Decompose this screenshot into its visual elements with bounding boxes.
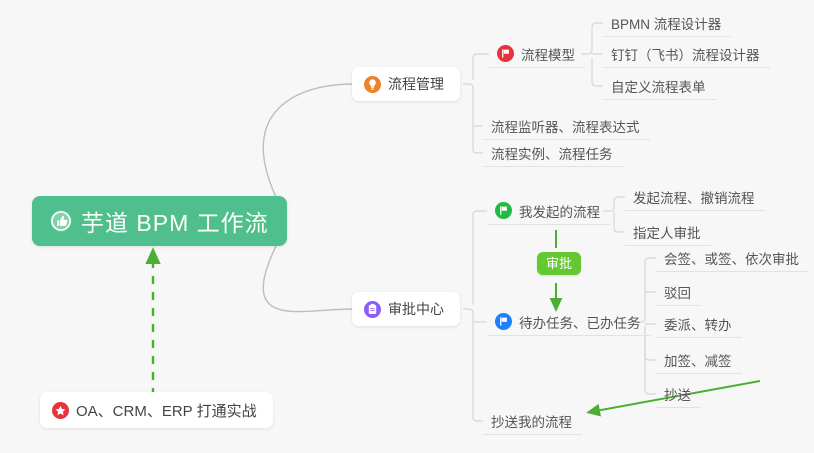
node-label-delegate-transfer: 委派、转办 <box>664 314 732 334</box>
branch-label-approval-center: 审批中心 <box>388 299 444 319</box>
node-label-todo-done-task: 待办任务、已办任务 <box>519 312 641 332</box>
bottom-note-node[interactable]: OA、CRM、ERP 打通实战 <box>40 392 273 428</box>
link-root-to-approval-center <box>263 236 352 312</box>
node-assignee-approval[interactable]: 指定人审批 <box>625 218 711 246</box>
node-label-listener-expression: 流程监听器、流程表达式 <box>491 116 640 136</box>
node-custom-process-form[interactable]: 自定义流程表单 <box>603 72 716 100</box>
node-label-dingtalk-feishu-designer: 钉钉（飞书）流程设计器 <box>611 44 760 64</box>
link-ac-to-my-started <box>473 211 487 305</box>
clipboard-icon <box>364 301 381 318</box>
node-process-model[interactable]: 流程模型 <box>489 40 585 68</box>
link-root-to-process-management <box>263 84 352 207</box>
link-ac-trunk <box>463 309 483 421</box>
bottom-note-label: OA、CRM、ERP 打通实战 <box>76 400 257 421</box>
node-multi-sign[interactable]: 会签、或签、依次审批 <box>656 244 809 272</box>
flag-icon <box>497 45 514 62</box>
link-pm-to-process-model <box>473 54 489 80</box>
branch-node-approval-center[interactable]: 审批中心 <box>352 292 460 326</box>
annotation-badge-approval-label: 审批 <box>546 256 572 271</box>
mindmap-canvas: 芋道 BPM 工作流 流程管理 流程模型 BPMN 流程设计器 钉钉（飞书）流程… <box>0 0 814 453</box>
link-model-to-customform <box>592 58 603 86</box>
branch-label-process-management: 流程管理 <box>388 74 444 94</box>
node-label-cc: 抄送 <box>664 384 691 404</box>
node-add-remove-sign[interactable]: 加签、减签 <box>656 346 742 374</box>
star-icon <box>52 402 69 419</box>
node-label-process-model: 流程模型 <box>521 44 575 64</box>
node-label-instance-task: 流程实例、流程任务 <box>491 143 613 163</box>
node-start-cancel-process[interactable]: 发起流程、撤销流程 <box>625 183 765 211</box>
link-started-to-assignee <box>614 211 625 232</box>
thumbs-up-icon <box>50 210 72 232</box>
node-cc[interactable]: 抄送 <box>656 380 701 408</box>
node-delegate-transfer[interactable]: 委派、转办 <box>656 310 742 338</box>
node-instance-task[interactable]: 流程实例、流程任务 <box>483 139 623 167</box>
node-label-reject: 驳回 <box>664 282 691 302</box>
flag-icon <box>495 313 512 330</box>
node-label-bpmn-designer: BPMN 流程设计器 <box>611 13 721 33</box>
node-listener-expression[interactable]: 流程监听器、流程表达式 <box>483 112 650 140</box>
link-pm-trunk <box>463 84 483 153</box>
annotation-badge-approval: 审批 <box>537 252 581 275</box>
node-label-custom-process-form: 自定义流程表单 <box>611 76 706 96</box>
node-todo-done-task[interactable]: 待办任务、已办任务 <box>487 308 651 336</box>
node-bpmn-designer[interactable]: BPMN 流程设计器 <box>603 9 731 37</box>
node-dingtalk-feishu-designer[interactable]: 钉钉（飞书）流程设计器 <box>603 40 770 68</box>
flag-icon <box>495 202 512 219</box>
node-reject[interactable]: 驳回 <box>656 278 701 306</box>
root-node[interactable]: 芋道 BPM 工作流 <box>32 196 287 246</box>
node-label-cc-to-me-process: 抄送我的流程 <box>491 411 572 431</box>
branch-node-process-management[interactable]: 流程管理 <box>352 67 460 101</box>
lightbulb-icon <box>364 76 381 93</box>
root-label: 芋道 BPM 工作流 <box>81 204 269 238</box>
node-cc-to-me-process[interactable]: 抄送我的流程 <box>483 407 582 435</box>
node-label-assignee-approval: 指定人审批 <box>633 222 701 242</box>
node-label-multi-sign: 会签、或签、依次审批 <box>664 248 799 268</box>
link-todo-to-cc <box>645 326 656 394</box>
node-label-add-remove-sign: 加签、减签 <box>664 350 732 370</box>
node-my-started-process[interactable]: 我发起的流程 <box>487 197 610 225</box>
node-label-start-cancel-process: 发起流程、撤销流程 <box>633 187 755 207</box>
node-label-my-started-process: 我发起的流程 <box>519 201 600 221</box>
